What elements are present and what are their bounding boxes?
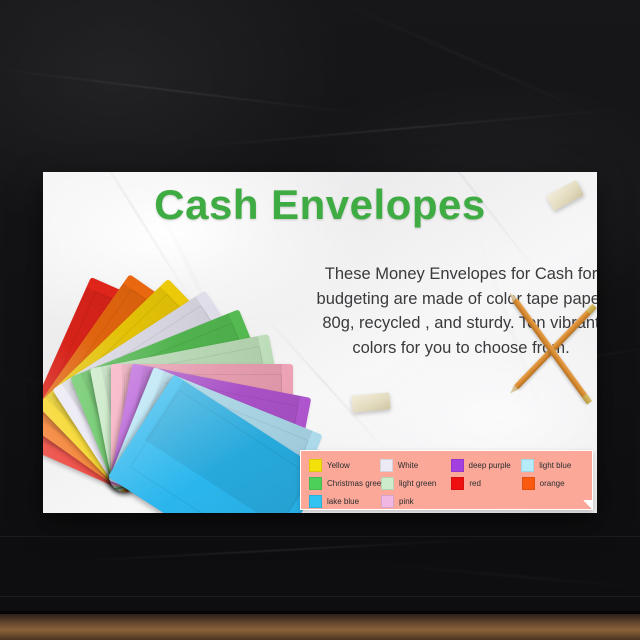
swatch-pink	[381, 495, 394, 508]
legend-item-orange: orange	[522, 477, 592, 490]
legend-label: Christmas green	[327, 479, 386, 488]
legend-label: red	[469, 479, 481, 488]
product-image: pngtree Cash Envelopes These Money Envel…	[0, 0, 640, 640]
swatch-light-blue	[521, 459, 534, 472]
swatch-light-green	[381, 477, 394, 490]
envelope-fan	[51, 214, 319, 494]
legend-label: White	[398, 461, 418, 470]
swatch-white	[380, 459, 393, 472]
legend-row: Christmas green light green red orange	[309, 474, 592, 492]
legend-item-white: White	[380, 459, 451, 472]
legend-item-christmas-green: Christmas green	[309, 477, 381, 490]
swatch-red	[451, 477, 464, 490]
legend-item-light-green: light green	[381, 477, 451, 490]
legend-label: light blue	[539, 461, 571, 470]
legend-item-deep-purple: deep purple	[451, 459, 522, 472]
legend-label: deep purple	[469, 461, 511, 470]
swatch-yellow	[309, 459, 322, 472]
swatch-deep-purple	[451, 459, 464, 472]
wooden-shelf	[0, 614, 640, 640]
legend-item-light-blue: light blue	[521, 459, 592, 472]
swatch-lake-blue	[309, 495, 322, 508]
swatch-christmas-green	[309, 477, 322, 490]
product-card: Cash Envelopes These Money Envelopes for…	[43, 172, 597, 513]
legend-item-yellow: Yellow	[309, 459, 380, 472]
legend-row: lake blue pink	[309, 492, 592, 510]
legend-item-pink: pink	[381, 495, 453, 508]
legend-label: orange	[540, 479, 565, 488]
legend-label: pink	[399, 497, 414, 506]
legend-item-red: red	[451, 477, 521, 490]
color-legend: Yellow White deep purple light blue	[300, 450, 593, 510]
swatch-orange	[522, 477, 535, 490]
legend-label: lake blue	[327, 497, 359, 506]
folded-corner	[583, 500, 592, 509]
legend-row: Yellow White deep purple light blue	[309, 456, 592, 474]
legend-item-lake-blue: lake blue	[309, 495, 381, 508]
legend-label: light green	[399, 479, 436, 488]
eraser-bottom-icon	[351, 392, 390, 412]
legend-label: Yellow	[327, 461, 350, 470]
